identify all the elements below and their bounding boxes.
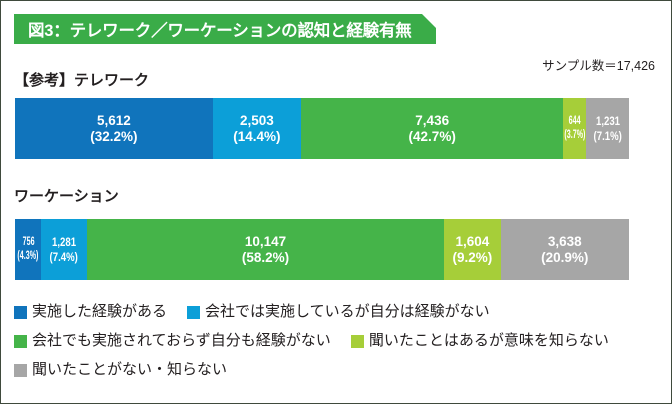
section-label-telework: 【参考】テレワーク	[14, 69, 149, 90]
bar-segment-workation-none: 10,147 (58.2%)	[87, 219, 444, 280]
segment-value: 1,604	[456, 234, 490, 250]
square-swatch-icon	[351, 335, 364, 348]
bar-segment-telework-none: 7,436 (42.7%)	[301, 98, 563, 159]
legend-row-1: 実施した経験がある 会社では実施しているが自分は経験がない	[14, 304, 660, 333]
square-swatch-icon	[14, 364, 27, 377]
legend-row-2: 会社でも実施されておらず自分も経験がない 聞いたことはあるが意味を知らない	[14, 333, 660, 362]
segment-percent: (14.4%)	[233, 129, 280, 145]
segment-percent: (7.4%)	[50, 250, 78, 264]
segment-percent: (7.1%)	[594, 129, 622, 143]
segment-value: 10,147	[245, 234, 286, 250]
legend-label: 聞いたことはあるが意味を知らない	[369, 333, 609, 348]
bar-segment-telework-experienced: 5,612 (32.2%)	[15, 98, 213, 159]
legend-label: 実施した経験がある	[32, 304, 167, 319]
segment-value: 2,503	[240, 113, 274, 129]
segment-value: 1,281	[52, 235, 76, 249]
bar-segment-telework-heard-only: 644 (3.7%)	[563, 98, 586, 159]
square-swatch-icon	[14, 306, 27, 319]
stacked-bar-workation: 756 (4.3%) 1,281 (7.4%) 10,147 (58.2%) 1…	[15, 219, 629, 280]
segment-value: 5,612	[97, 113, 131, 129]
legend-row-3: 聞いたことがない・知らない	[14, 362, 660, 391]
segment-percent: (32.2%)	[90, 129, 137, 145]
legend-item-unknown: 聞いたことがない・知らない	[14, 362, 227, 377]
legend-item-experienced: 実施した経験がある	[14, 304, 167, 319]
figure-title: 図3：テレワーク／ワーケーションの認知と経験有無	[14, 17, 412, 41]
sample-size-label: サンプル数＝17,426	[542, 55, 655, 74]
segment-value: 3,638	[548, 234, 582, 250]
segment-percent: (9.2%)	[453, 250, 493, 266]
segment-percent: (20.9%)	[541, 250, 588, 266]
segment-value: 644	[569, 115, 581, 129]
legend-item-none: 会社でも実施されておらず自分も経験がない	[14, 333, 331, 348]
bar-segment-workation-heard-only: 1,604 (9.2%)	[444, 219, 500, 280]
bar-segment-telework-unknown: 1,231 (7.1%)	[586, 98, 629, 159]
legend-label: 聞いたことがない・知らない	[32, 362, 227, 377]
square-swatch-icon	[14, 335, 27, 348]
square-swatch-icon	[187, 306, 200, 319]
legend-item-heard-only: 聞いたことはあるが意味を知らない	[351, 333, 609, 348]
bar-segment-workation-company-only: 1,281 (7.4%)	[41, 219, 86, 280]
bar-segment-workation-unknown: 3,638 (20.9%)	[501, 219, 629, 280]
title-banner: 図3：テレワーク／ワーケーションの認知と経験有無	[14, 14, 436, 44]
segment-value: 1,231	[596, 114, 620, 128]
segment-value: 756	[22, 236, 34, 250]
section-label-workation: ワーケーション	[14, 185, 119, 206]
segment-percent: (58.2%)	[242, 250, 289, 266]
legend-label: 会社でも実施されておらず自分も経験がない	[32, 333, 331, 348]
legend-label: 会社では実施しているが自分は経験がない	[205, 304, 490, 319]
segment-percent: (4.3%)	[18, 250, 39, 264]
stacked-bar-telework: 5,612 (32.2%) 2,503 (14.4%) 7,436 (42.7%…	[15, 98, 629, 159]
segment-percent: (3.7%)	[564, 129, 585, 143]
legend-item-company-only: 会社では実施しているが自分は経験がない	[187, 304, 490, 319]
segment-value: 7,436	[415, 113, 449, 129]
bar-segment-telework-company-only: 2,503 (14.4%)	[213, 98, 301, 159]
legend: 実施した経験がある 会社では実施しているが自分は経験がない 会社でも実施されてお…	[14, 304, 660, 391]
figure-container: 図3：テレワーク／ワーケーションの認知と経験有無 サンプル数＝17,426 【参…	[0, 0, 672, 404]
bar-segment-workation-experienced: 756 (4.3%)	[15, 219, 41, 280]
segment-percent: (42.7%)	[409, 129, 456, 145]
